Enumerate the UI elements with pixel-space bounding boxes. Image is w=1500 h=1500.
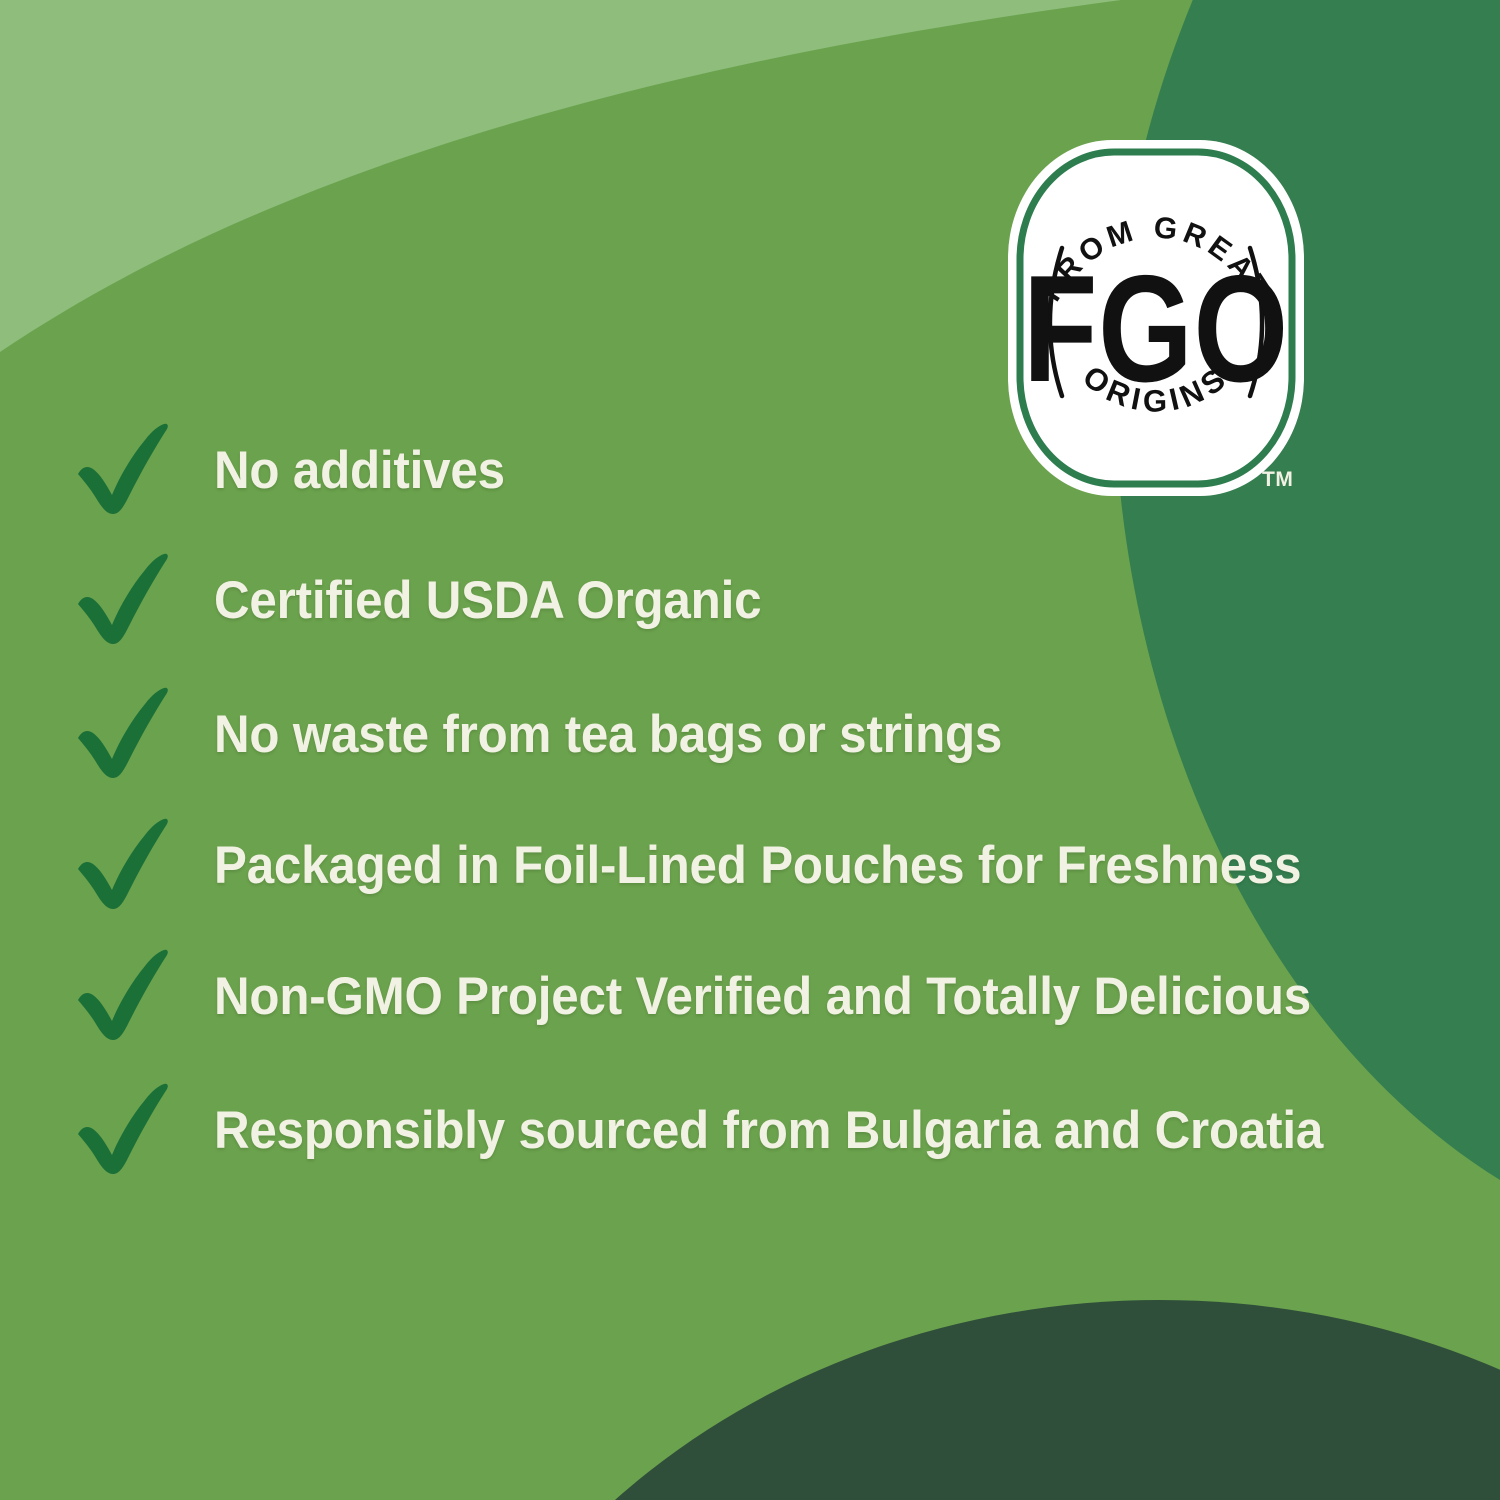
check-icon bbox=[72, 817, 176, 913]
check-icon bbox=[72, 552, 176, 648]
feature-label: No additives bbox=[214, 444, 505, 497]
feature-label: Packaged in Foil-Lined Pouches for Fresh… bbox=[214, 839, 1301, 892]
feature-item: Packaged in Foil-Lined Pouches for Fresh… bbox=[72, 817, 1383, 913]
check-icon bbox=[72, 948, 176, 1044]
trademark-mark: TM bbox=[1262, 468, 1293, 492]
feature-label: Certified USDA Organic bbox=[214, 574, 761, 627]
feature-label: Non-GMO Project Verified and Totally Del… bbox=[214, 970, 1311, 1023]
feature-item: Non-GMO Project Verified and Totally Del… bbox=[72, 948, 1394, 1044]
check-icon bbox=[72, 422, 176, 518]
feature-item: No additives bbox=[72, 422, 527, 518]
fgo-logo-badge: FROM GREAT FGO ORIGINS bbox=[1006, 138, 1306, 498]
check-icon bbox=[72, 686, 176, 782]
feature-label: No waste from tea bags or strings bbox=[214, 708, 1002, 761]
product-feature-graphic: No additives Certified USDA Organic No w… bbox=[0, 0, 1500, 1500]
feature-label: Responsibly sourced from Bulgaria and Cr… bbox=[214, 1104, 1323, 1157]
feature-item: Responsibly sourced from Bulgaria and Cr… bbox=[72, 1082, 1407, 1178]
fgo-brand-logo: FROM GREAT FGO ORIGINS bbox=[1006, 138, 1306, 498]
check-icon bbox=[72, 1082, 176, 1178]
feature-item: Certified USDA Organic bbox=[72, 552, 803, 648]
feature-item: No waste from tea bags or strings bbox=[72, 686, 1061, 782]
